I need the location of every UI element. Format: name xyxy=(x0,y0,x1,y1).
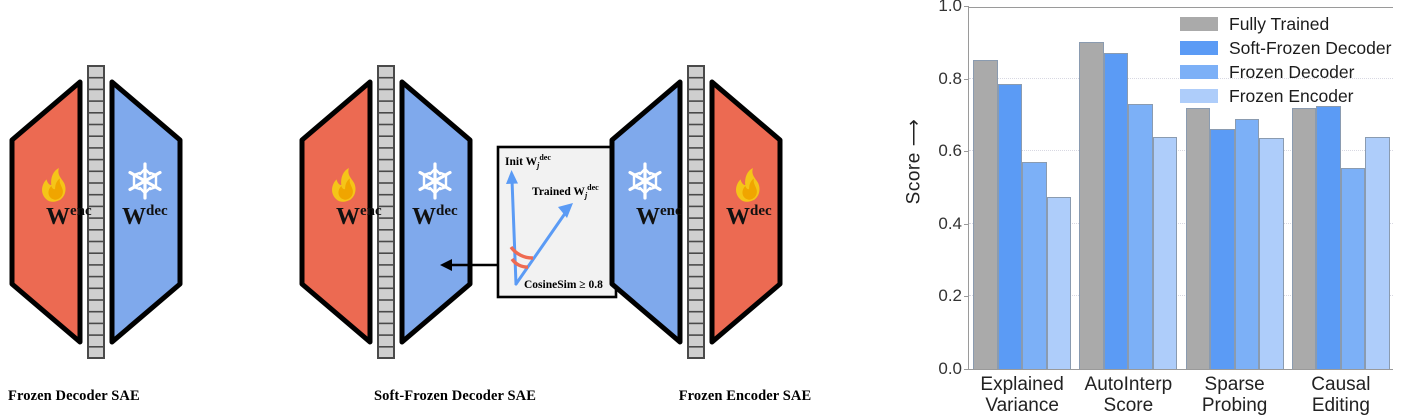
bar[interactable] xyxy=(1341,168,1366,369)
legend-label: Soft-Frozen Decoder xyxy=(1229,38,1391,59)
chart-legend: Fully TrainedSoft-Frozen DecoderFrozen D… xyxy=(1180,12,1410,108)
bar[interactable] xyxy=(1365,137,1390,369)
bar[interactable] xyxy=(1022,162,1047,369)
cosine-sim-constraint: CosineSim ≥ 0.8 xyxy=(524,279,603,291)
bar[interactable] xyxy=(973,60,998,369)
bar[interactable] xyxy=(1235,119,1260,369)
bar-group xyxy=(1075,8,1181,369)
sae-diagram-frozen-decoder: Wenc Wdec Frozen Decoder SAE xyxy=(0,0,290,420)
sae-body-svg-frozen-decoder: Wenc Wdec xyxy=(0,52,290,372)
bar[interactable] xyxy=(1153,137,1178,369)
bar[interactable] xyxy=(1104,53,1129,369)
legend-swatch xyxy=(1180,17,1218,31)
y-tick-label: 0.2 xyxy=(938,286,962,306)
legend-swatch xyxy=(1180,41,1218,55)
bar[interactable] xyxy=(1292,108,1317,369)
bar[interactable] xyxy=(1210,129,1235,369)
bar[interactable] xyxy=(998,84,1023,369)
y-tick-mark xyxy=(964,369,969,370)
legend-item[interactable]: Frozen Decoder xyxy=(1180,60,1410,84)
bar[interactable] xyxy=(1316,106,1341,369)
sae-body-svg-frozen-encoder: Wenc Wdec xyxy=(600,52,890,372)
y-tick-label: 0.8 xyxy=(938,69,962,89)
sae-caption-frozen-decoder: Frozen Decoder SAE xyxy=(0,388,290,405)
cosine-sim-inset: Init Wjdec Trained Wjdec CosineSim ≥ 0.8 xyxy=(498,147,616,297)
x-tick-label-line: Editing xyxy=(1271,396,1411,417)
bar[interactable] xyxy=(1128,104,1153,369)
legend-item[interactable]: Frozen Encoder xyxy=(1180,84,1410,108)
sae-diagram-frozen-encoder: Wenc Wdec Frozen Encoder SAE xyxy=(600,0,890,420)
bar[interactable] xyxy=(1186,108,1211,369)
legend-item[interactable]: Soft-Frozen Decoder xyxy=(1180,36,1410,60)
y-tick-label: 1.0 xyxy=(938,0,962,16)
legend-swatch xyxy=(1180,65,1218,79)
bar[interactable] xyxy=(1259,138,1284,369)
sae-caption-soft-frozen-decoder: Soft-Frozen Decoder SAE xyxy=(290,388,620,405)
y-tick-mark xyxy=(964,6,969,7)
sae-diagram-soft-frozen-decoder: Wenc Wdec xyxy=(290,0,620,420)
latent-column xyxy=(688,66,704,358)
bar[interactable] xyxy=(1047,197,1072,369)
y-tick-label: 0.6 xyxy=(938,141,962,161)
encoder-label: Wenc xyxy=(336,203,382,230)
bar[interactable] xyxy=(1079,42,1104,369)
legend-swatch xyxy=(1180,89,1218,103)
figure-root: Wenc Wdec Frozen Decoder SAE xyxy=(0,0,1413,420)
legend-label: Frozen Decoder xyxy=(1229,62,1354,83)
legend-label: Frozen Encoder xyxy=(1229,86,1354,107)
sae-caption-frozen-encoder: Frozen Encoder SAE xyxy=(600,388,890,405)
sae-body-svg-soft-frozen: Wenc Wdec xyxy=(290,52,620,372)
bar-group xyxy=(969,8,1075,369)
legend-label: Fully Trained xyxy=(1229,14,1329,35)
legend-item[interactable]: Fully Trained xyxy=(1180,12,1410,36)
x-tick-label-line: Causal xyxy=(1271,375,1411,396)
encoder-label: Wenc xyxy=(46,203,92,230)
y-tick-label: 0.4 xyxy=(938,214,962,234)
x-tick-label: CausalEditing xyxy=(1271,375,1411,416)
bar-chart-panel: Score ⟶ 0.00.20.40.60.81.0 ExplainedVari… xyxy=(880,0,1413,420)
y-axis-title: Score ⟶ xyxy=(903,92,926,232)
sae-diagram-panel: Wenc Wdec Frozen Decoder SAE xyxy=(0,0,880,420)
